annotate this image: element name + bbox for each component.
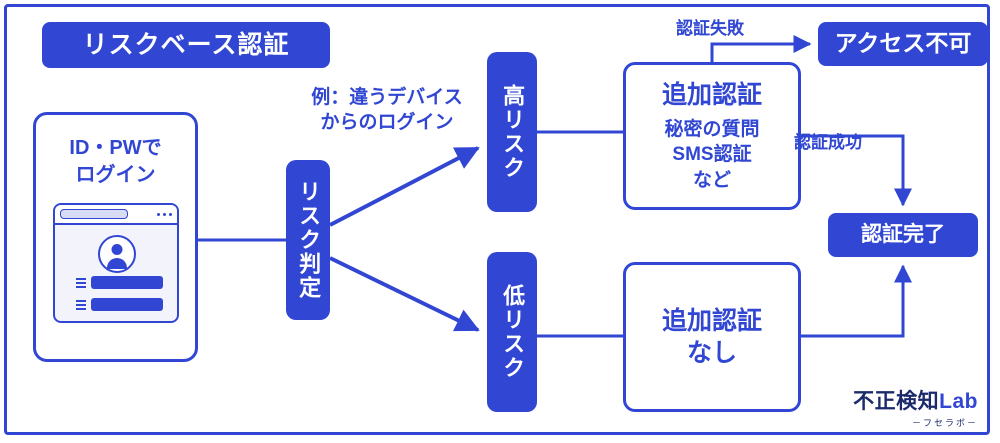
node-login-label-line2: ログイン bbox=[76, 162, 156, 189]
menu-dots-icon bbox=[157, 213, 172, 216]
node-additional-auth-heading: 追加認証 bbox=[662, 79, 762, 111]
list-lines-icon bbox=[76, 278, 86, 288]
node-login-label-line1: ID・PWで bbox=[69, 135, 161, 162]
edge-label-example-line2: からのログイン bbox=[292, 111, 482, 136]
edge-label-auth-success: 認証成功 bbox=[794, 132, 862, 154]
input-field-icon bbox=[91, 276, 163, 289]
node-auth-complete-label: 認証完了 bbox=[861, 222, 945, 249]
node-no-additional-auth-line2: なし bbox=[687, 337, 737, 369]
edge-label-example-line1: 例：違うデバイス bbox=[292, 86, 482, 111]
logo-main-text: 不正検知Lab bbox=[853, 385, 978, 415]
edge-label-example: 例：違うデバイス からのログイン bbox=[292, 86, 482, 135]
browser-content bbox=[55, 225, 177, 321]
node-additional-auth[interactable]: 追加認証 秘密の質問 SMS認証 など bbox=[623, 62, 801, 210]
url-field-icon bbox=[60, 209, 128, 219]
input-field-icon bbox=[91, 298, 163, 311]
logo-sub-text: －フセラボ－ bbox=[853, 416, 978, 429]
site-logo: 不正検知Lab －フセラボ－ bbox=[853, 385, 978, 429]
user-avatar-icon bbox=[98, 235, 136, 273]
diagram-title: リスクベース認証 bbox=[42, 22, 330, 68]
login-form-mock bbox=[76, 276, 163, 311]
browser-address-bar bbox=[55, 205, 177, 225]
node-access-denied-label: アクセス不可 bbox=[835, 29, 972, 58]
node-login[interactable]: ID・PWで ログイン bbox=[33, 112, 198, 362]
node-no-additional-auth[interactable]: 追加認証 なし bbox=[623, 262, 801, 412]
logo-main-label: 不正検知 bbox=[853, 390, 939, 413]
node-high-risk[interactable]: 高リスク bbox=[487, 52, 537, 212]
node-low-risk[interactable]: 低リスク bbox=[487, 252, 537, 412]
node-additional-auth-detail-2: SMS認証 bbox=[672, 142, 751, 168]
logo-accent-label: Lab bbox=[939, 390, 978, 413]
node-access-denied[interactable]: アクセス不可 bbox=[818, 22, 988, 66]
node-risk-judgement[interactable]: リスク判定 bbox=[286, 160, 330, 320]
edge-label-auth-fail: 認証失敗 bbox=[676, 18, 744, 40]
node-additional-auth-detail-1: 秘密の質問 bbox=[664, 117, 759, 143]
list-lines-icon bbox=[76, 300, 86, 310]
node-no-additional-auth-line1: 追加認証 bbox=[662, 305, 762, 337]
form-row bbox=[76, 276, 163, 289]
node-auth-complete[interactable]: 認証完了 bbox=[828, 213, 978, 257]
node-low-risk-label: 低リスク bbox=[498, 284, 526, 380]
form-row bbox=[76, 298, 163, 311]
diagram-title-text: リスクベース認証 bbox=[83, 29, 290, 61]
node-risk-judgement-label: リスク判定 bbox=[294, 180, 322, 300]
browser-mock-icon bbox=[53, 203, 179, 323]
node-high-risk-label: 高リスク bbox=[498, 84, 526, 180]
diagram-canvas: リスクベース認証 ID・PWで ログイン bbox=[0, 0, 1000, 443]
node-additional-auth-detail-3: など bbox=[693, 168, 731, 194]
